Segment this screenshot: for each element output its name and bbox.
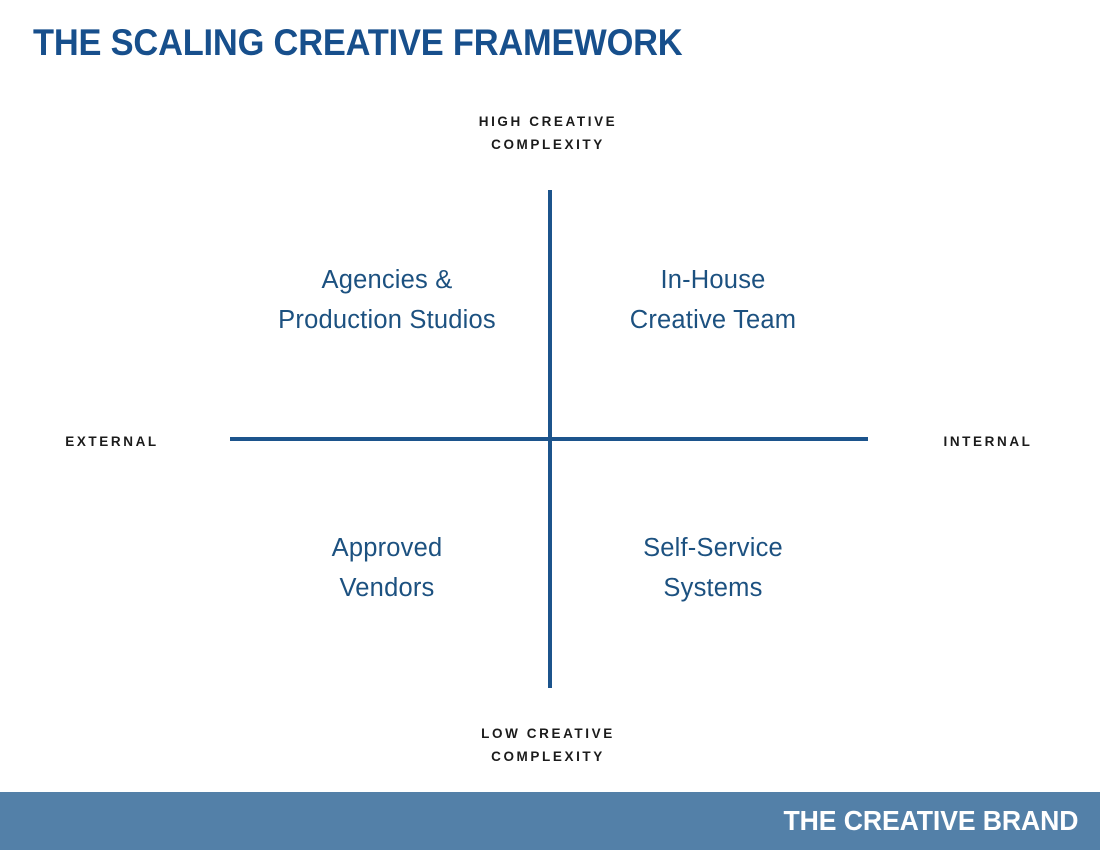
axis-label-left: EXTERNAL	[22, 430, 202, 453]
quadrant-label-top-right: In-House Creative Team	[563, 260, 863, 340]
axis-label-bottom: LOW CREATIVE COMPLEXITY	[398, 722, 698, 768]
quadrant-label-bottom-left: Approved Vendors	[237, 528, 537, 608]
axis-label-top: HIGH CREATIVE COMPLEXITY	[398, 110, 698, 156]
slide-canvas: THE SCALING CREATIVE FRAMEWORK HIGH CREA…	[0, 0, 1100, 850]
footer-brand-name: THE CREATIVE BRAND	[783, 805, 1078, 837]
footer-bar: THE CREATIVE BRAND	[0, 792, 1100, 850]
quadrant-matrix: HIGH CREATIVE COMPLEXITY LOW CREATIVE CO…	[0, 0, 1100, 790]
quadrant-label-bottom-right: Self-Service Systems	[563, 528, 863, 608]
horizontal-axis-line	[230, 437, 868, 441]
axis-label-right: INTERNAL	[898, 430, 1078, 453]
quadrant-label-top-left: Agencies & Production Studios	[237, 260, 537, 340]
